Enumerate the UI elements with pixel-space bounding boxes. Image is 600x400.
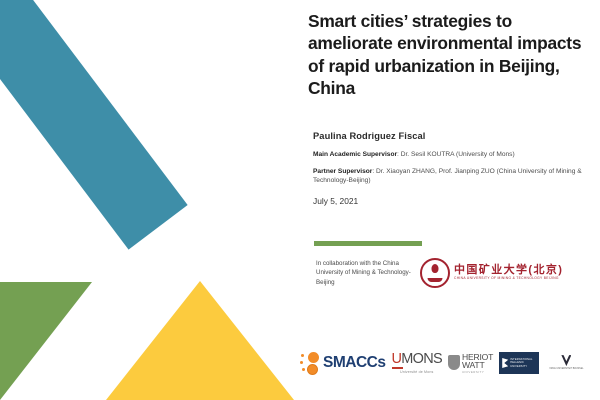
heriot-watt-logo: HERIOT WATT UNIVERSITY: [448, 353, 493, 374]
main-supervisor-value: : Dr. Sesil KOUTRA (University of Mons): [397, 151, 515, 158]
green-triangle-shape: [0, 282, 92, 400]
vub-v-icon: [561, 355, 571, 366]
cumt-english-name: CHINA UNIVERSITY OF MINING & TECHNOLOGY …: [454, 277, 563, 280]
partner-supervisor-label: Partner Supervisor: [313, 168, 372, 175]
heriot-watt-line2: WATT: [462, 361, 493, 370]
heriot-watt-wordmark: HERIOT WATT UNIVERSITY: [462, 353, 493, 374]
international-hellenic-university-logo: INTERNATIONAL HELLENIC UNIVERSITY: [499, 352, 539, 374]
umons-logo: UMONS Université de Mons: [391, 352, 441, 374]
cumt-seal-icon: [420, 258, 450, 288]
collaboration-row: In collaboration with the China Universi…: [316, 258, 600, 288]
presentation-title-slide: Smart cities’ strategies to ameliorate e…: [0, 0, 600, 400]
umons-wordmark: UMONS: [391, 352, 441, 367]
cumt-wordmark: 中国矿业大学(北京) CHINA UNIVERSITY OF MINING & …: [454, 265, 563, 280]
umons-subtitle: Université de Mons: [400, 370, 433, 374]
vub-wordmark: VRIJE UNIVERSITEIT BRUSSEL: [549, 368, 583, 371]
collaboration-text: In collaboration with the China Universi…: [316, 259, 412, 288]
partner-supervisor-line: Partner Supervisor: Dr. Xiaoyan ZHANG, P…: [313, 167, 593, 185]
umons-red-underline: [392, 367, 403, 369]
smaccs-dots-icon: [300, 351, 321, 376]
yellow-triangle-shape: [106, 281, 294, 400]
umons-u-letter: U: [391, 351, 401, 367]
presentation-date: July 5, 2021: [313, 196, 593, 206]
slide-title: Smart cities’ strategies to ameliorate e…: [308, 10, 596, 100]
green-divider-rule: [314, 241, 422, 246]
teal-diagonal-bar-shape: [0, 0, 188, 250]
ihu-wordmark: INTERNATIONAL HELLENIC UNIVERSITY: [510, 358, 536, 368]
cumt-chinese-name: 中国矿业大学(北京): [454, 265, 563, 276]
vub-logo: VRIJE UNIVERSITEIT BRUSSEL: [549, 355, 583, 371]
umons-rest-letters: MONS: [401, 351, 442, 367]
ihu-emblem-icon: [502, 358, 508, 368]
slide-content-column: Smart cities’ strategies to ameliorate e…: [308, 0, 600, 400]
smaccs-logo: SMACCs: [300, 351, 385, 376]
heriot-watt-line3: UNIVERSITY: [462, 371, 493, 374]
partner-logo-strip: SMACCs UMONS Université de Mons HERIOT W…: [300, 344, 600, 382]
cumt-logo: 中国矿业大学(北京) CHINA UNIVERSITY OF MINING & …: [420, 258, 563, 288]
main-supervisor-line: Main Academic Supervisor: Dr. Sesil KOUT…: [313, 150, 593, 159]
byline-block: Paulina Rodriguez Fiscal Main Academic S…: [313, 131, 593, 206]
main-supervisor-label: Main Academic Supervisor: [313, 151, 397, 158]
heriot-watt-shield-icon: [448, 355, 460, 370]
smaccs-wordmark: SMACCs: [323, 355, 385, 371]
author-name: Paulina Rodriguez Fiscal: [313, 131, 593, 141]
